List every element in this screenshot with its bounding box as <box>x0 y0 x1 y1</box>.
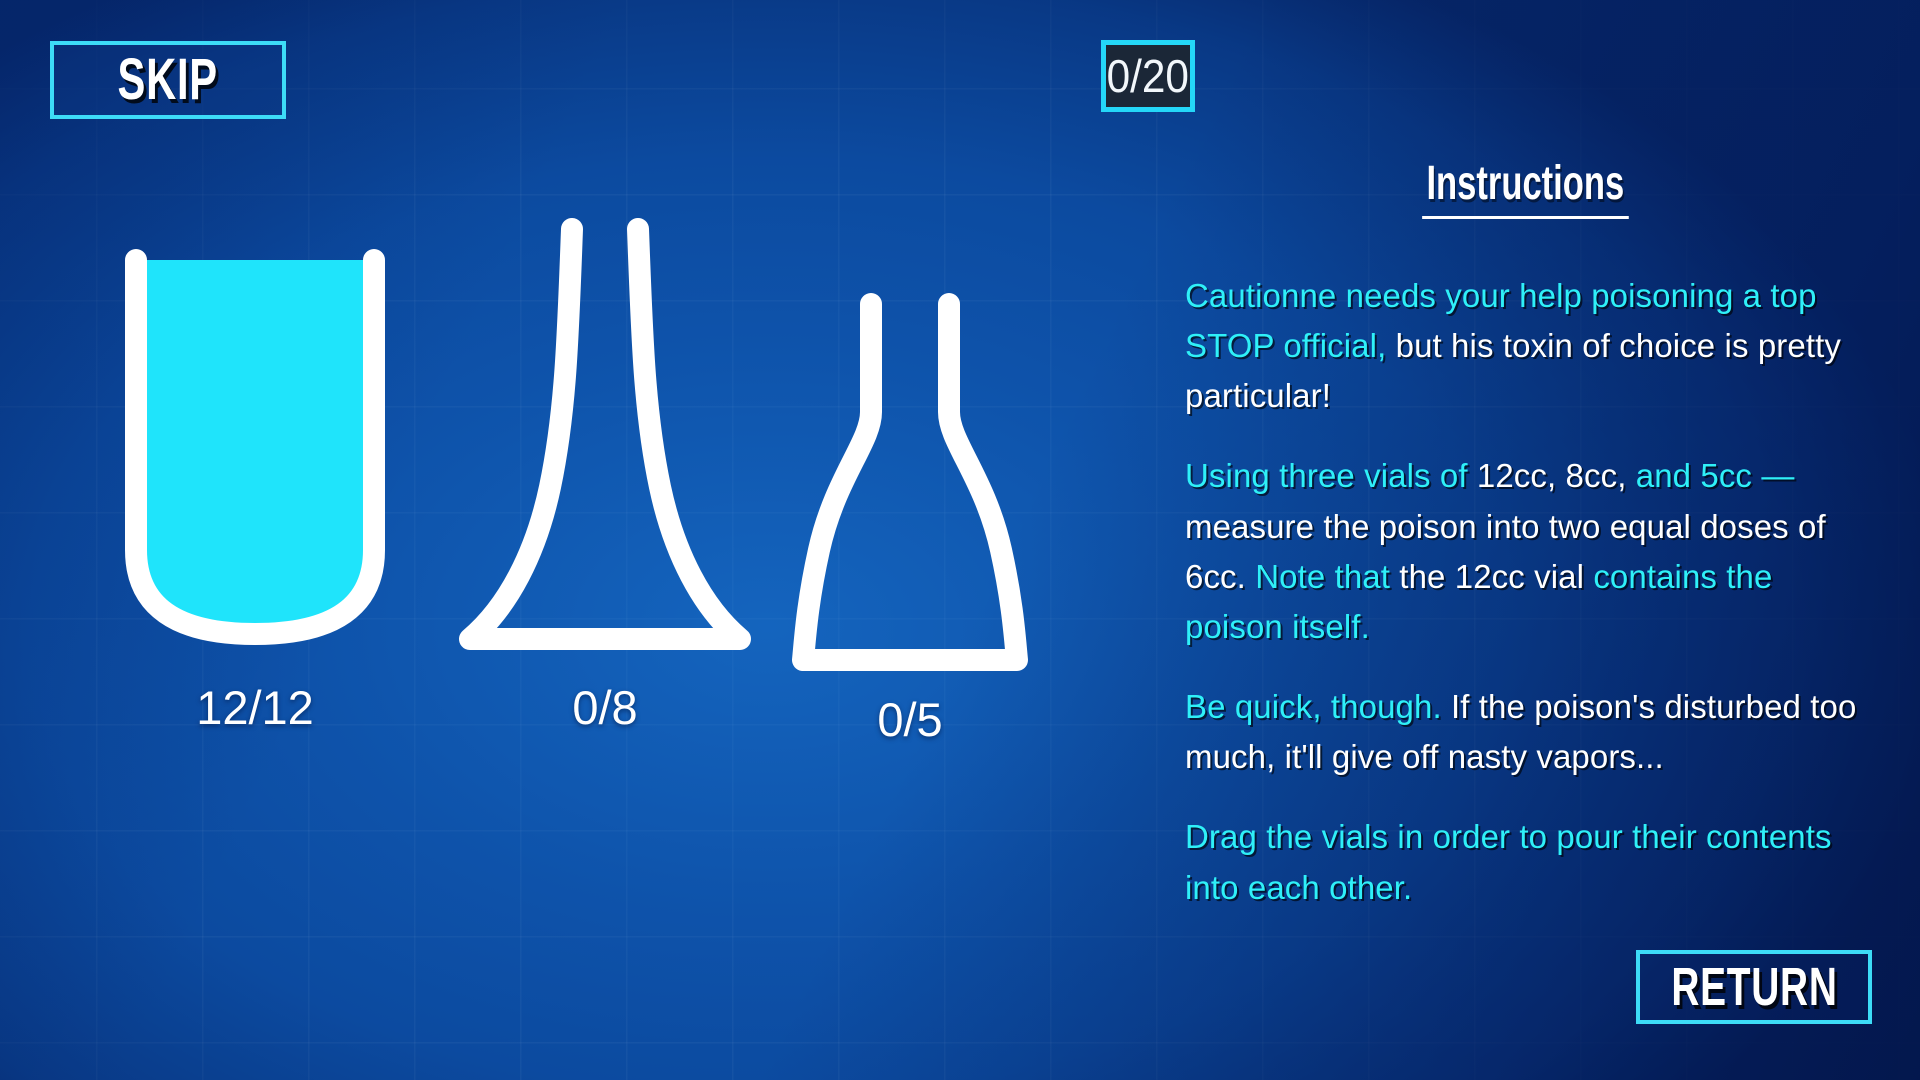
instructions-heading: Instructions <box>1185 160 1865 219</box>
instructions-panel: Instructions Cautionne needs your help p… <box>1185 160 1865 913</box>
vial-flask-8-label: 0/8 <box>450 680 760 735</box>
instructions-heading-text: Instructions <box>1422 160 1628 219</box>
skip-button-label: SKIP <box>118 51 218 109</box>
instructions-body: Cautionne needs your help poisoning a to… <box>1185 271 1865 913</box>
vial-rack: 12/12 0/8 0/5 <box>60 250 1160 870</box>
bottle-outline <box>803 304 1017 660</box>
return-button[interactable]: RETURN <box>1636 950 1872 1024</box>
instructions-text-segment: Drag the vials in order to pour their co… <box>1185 818 1832 905</box>
vial-beaker-12[interactable]: 12/12 <box>100 250 410 670</box>
move-counter-value: 0/20 <box>1107 53 1189 99</box>
move-counter: 0/20 <box>1101 40 1195 112</box>
instructions-paragraph-warning: Be quick, though. If the poison's distur… <box>1185 682 1865 782</box>
bottle-graphic <box>775 292 1045 682</box>
instructions-text-segment: 12cc, 8cc, <box>1477 457 1636 494</box>
vial-beaker-12-label: 12/12 <box>100 680 410 735</box>
instructions-text-segment: Be quick, though. <box>1185 688 1451 725</box>
instructions-paragraph-intro: Cautionne needs your help poisoning a to… <box>1185 271 1865 421</box>
skip-button[interactable]: SKIP <box>50 41 286 119</box>
instructions-text-segment: the 12cc vial <box>1399 558 1593 595</box>
vial-bottle-5[interactable]: 0/5 <box>775 292 1045 682</box>
beaker-graphic <box>100 250 410 670</box>
instructions-text-segment: and 5cc <box>1636 457 1762 494</box>
beaker-liquid <box>120 254 390 646</box>
vial-flask-8[interactable]: 0/8 <box>450 215 760 670</box>
instructions-text-segment: — <box>1761 457 1794 494</box>
instructions-text-segment: Using three vials of <box>1185 457 1477 494</box>
return-button-label: RETURN <box>1671 960 1837 1014</box>
erlenmeyer-outline <box>470 229 740 639</box>
vial-bottle-5-label: 0/5 <box>775 692 1045 747</box>
instructions-text-segment: Note that <box>1255 558 1399 595</box>
erlenmeyer-graphic <box>450 215 760 670</box>
instructions-paragraph-controls: Drag the vials in order to pour their co… <box>1185 812 1865 912</box>
game-screen: SKIP 0/20 12/12 0/8 <box>0 0 1920 1080</box>
instructions-paragraph-task: Using three vials of 12cc, 8cc, and 5cc … <box>1185 451 1865 652</box>
